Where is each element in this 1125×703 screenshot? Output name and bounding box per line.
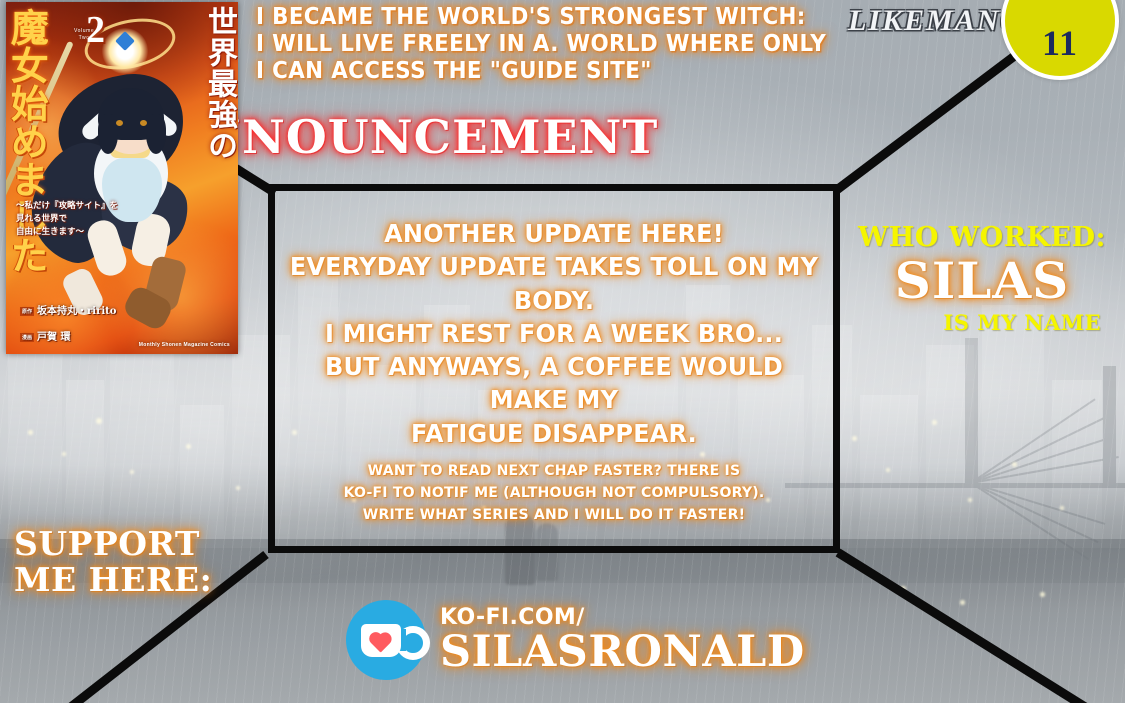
credits-lead-label: WHO WORKED: bbox=[857, 222, 1107, 253]
cover-imprint: Monthly Shonen Magazine Comics bbox=[139, 342, 230, 348]
kofi-url-label: KO-FI.COM/ bbox=[440, 607, 805, 629]
kofi-handle-label: SILASRONALD bbox=[440, 631, 805, 674]
manga-volume-cover: 世界最強の 魔女始めました Volume Two 2 〜私だけ『攻略サイト』を … bbox=[6, 2, 238, 354]
cover-author-name: 坂本持丸・ririto bbox=[37, 306, 116, 317]
cover-artist-name: 戸賀 環 bbox=[37, 332, 70, 343]
credits-tail-label: IS MY NAME bbox=[857, 310, 1107, 335]
kofi-link-row[interactable]: KO-FI.COM/ SILASRONALD bbox=[346, 600, 805, 680]
kofi-cup-handle bbox=[396, 626, 430, 660]
kofi-text-block[interactable]: KO-FI.COM/ SILASRONALD bbox=[440, 607, 805, 674]
announcement-panel: ANOTHER UPDATE HERE! EVERYDAY UPDATE TAK… bbox=[268, 184, 840, 553]
chapter-number-label: 11 bbox=[1042, 22, 1078, 64]
heart-icon bbox=[368, 633, 392, 654]
cover-character-eye-left bbox=[116, 120, 123, 126]
cover-character-eye-right bbox=[140, 120, 147, 126]
cover-character-hair-side-right bbox=[146, 114, 166, 154]
series-title: I BECAME THE WORLD'S STRONGEST WITCH: I … bbox=[256, 4, 826, 85]
credits-block: WHO WORKED: SILAS IS MY NAME bbox=[857, 222, 1107, 335]
cover-artist-credit: 漫画戸賀 環 bbox=[20, 328, 71, 343]
cover-artist-tag: 漫画 bbox=[20, 333, 34, 342]
cover-author-credit: 原作坂本持丸・ririto bbox=[20, 302, 116, 317]
manga-announcement-page: ANOTHER UPDATE HERE! EVERYDAY UPDATE TAK… bbox=[0, 0, 1125, 703]
kofi-cup-heart-icon[interactable] bbox=[346, 600, 426, 680]
cover-character-hair-side-left bbox=[98, 114, 118, 154]
credits-name: SILAS bbox=[857, 255, 1107, 308]
cover-volume-number: 2 bbox=[86, 8, 105, 52]
announcement-body-text: ANOTHER UPDATE HERE! EVERYDAY UPDATE TAK… bbox=[286, 217, 822, 450]
announcement-subnote-text: WANT TO READ NEXT CHAP FASTER? THERE IS … bbox=[283, 461, 824, 526]
support-label: SUPPORT ME HERE: bbox=[14, 526, 214, 597]
cover-author-tag: 原作 bbox=[20, 307, 34, 316]
cover-jp-title-right: 世界最強の bbox=[204, 6, 234, 161]
cover-jp-subtitle: 〜私だけ『攻略サイト』を 見れる世界で 自由に生きます〜 bbox=[16, 200, 146, 240]
